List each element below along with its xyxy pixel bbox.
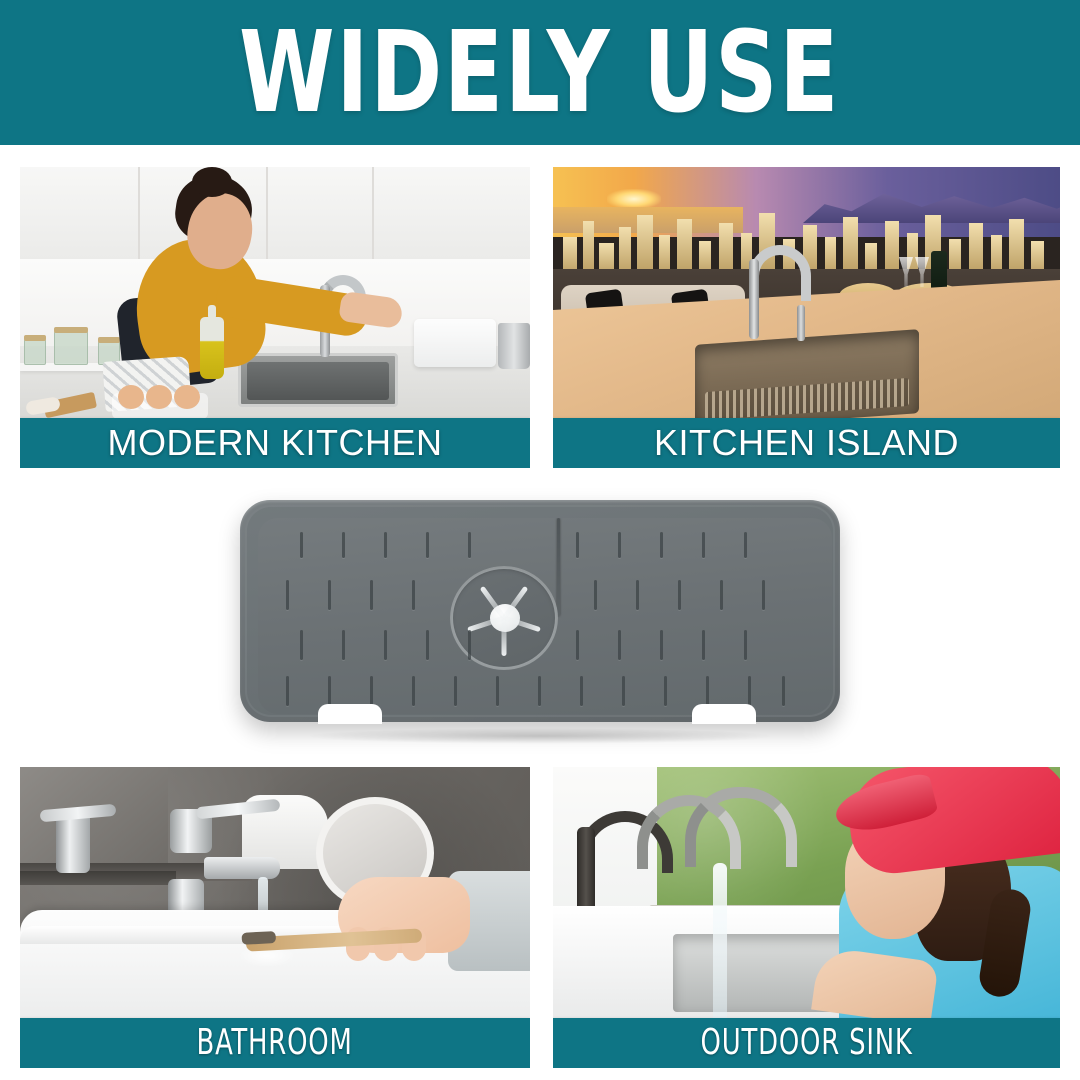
faucet-spout [204,857,280,879]
caption-label: BATHROOM [197,1025,353,1061]
mat-groove [660,532,663,558]
egg-tray [112,393,208,418]
kitchen-sink [238,353,398,407]
caption-outdoor-sink: OUTDOOR SINK [553,1018,1060,1068]
card-kitchen-island[interactable]: KITCHEN ISLAND [553,167,1060,468]
card-bathroom[interactable]: BATHROOM [20,767,530,1068]
mat-groove [496,676,499,706]
card-modern-kitchen[interactable]: MODERN KITCHEN [20,167,530,468]
mat-groove [328,580,331,610]
egg [174,385,200,409]
glass-jar [24,339,46,365]
faucet-neck [749,259,759,339]
moka-pot [498,323,530,369]
mat-groove [720,580,723,610]
mat-groove [384,532,387,558]
mat-groove [762,580,765,610]
mat-groove [286,580,289,610]
mat-groove [594,580,597,610]
mat-groove [580,676,583,706]
mat-body [240,500,840,722]
mat-groove [300,532,303,558]
caption-label: MODERN KITCHEN [107,425,442,461]
photo-outdoor-sink [553,767,1060,1018]
sink-basin [247,362,389,400]
mat-groove [576,532,579,558]
photo-modern-kitchen [20,167,530,418]
mat-groove [370,580,373,610]
toaster [414,319,496,367]
mat-groove [426,532,429,558]
kitchen-upper-cabinets [20,167,530,259]
mat-groove [286,676,289,706]
shelf-edge [20,871,176,885]
soap-dispenser [797,305,805,341]
caption-label: OUTDOOR SINK [700,1025,912,1061]
egg [146,385,172,409]
mat-groove [300,630,303,660]
mat-groove [664,676,667,706]
olive-oil-bottle [200,317,224,379]
building [637,215,653,277]
mat-groove [618,532,621,558]
mat-groove [636,580,639,610]
mat-groove [706,676,709,706]
caption-modern-kitchen: MODERN KITCHEN [20,418,530,468]
mat-groove [370,676,373,706]
mat-groove [426,630,429,660]
egg [118,385,144,409]
mat-groove [660,630,663,660]
mat-groove [342,630,345,660]
hair-bun [192,167,232,197]
sink-grid-rack [705,378,909,418]
water-stream [713,863,727,1018]
mat-groove [412,580,415,610]
caption-kitchen-island: KITCHEN ISLAND [553,418,1060,468]
glass-jar [54,331,88,365]
mat-groove [468,532,471,558]
mat-entry-slit [557,518,560,616]
mat-groove [342,532,345,558]
mat-groove [622,676,625,706]
mat-groove [576,630,579,660]
mat-groove [744,532,747,558]
mat-groove [702,532,705,558]
island-sink [695,329,919,418]
cabinet-seam [266,167,268,259]
mat-groove [748,676,751,706]
drip-notch [692,704,756,724]
mat-groove [782,676,785,706]
mat-groove [468,630,471,660]
caption-bathroom: BATHROOM [20,1018,530,1068]
card-outdoor-sink[interactable]: OUTDOOR SINK [553,767,1060,1068]
mat-groove [618,630,621,660]
mat-groove [328,676,331,706]
mat-groove [538,676,541,706]
mat-groove [702,630,705,660]
building [843,217,858,277]
caption-label: KITCHEN ISLAND [654,425,959,461]
cutout-spoke [502,618,507,656]
cabinet-seam [138,167,140,259]
faucet-cutout [450,566,558,670]
mat-groove [678,580,681,610]
photo-bathroom [20,767,530,1018]
photo-kitchen-island [553,167,1060,418]
product-shadow [300,728,780,744]
mat-groove [384,630,387,660]
mat-rim [245,505,835,717]
product-image-silicone-faucet-mat[interactable] [240,500,840,736]
mat-groove [412,676,415,706]
mat-surface [258,518,832,714]
mat-groove [744,630,747,660]
page-title: WIDELY USE [239,17,840,129]
cabinet-seam [372,167,374,259]
mat-groove [454,676,457,706]
header-banner: WIDELY USE [0,0,1080,145]
drip-notch [318,704,382,724]
